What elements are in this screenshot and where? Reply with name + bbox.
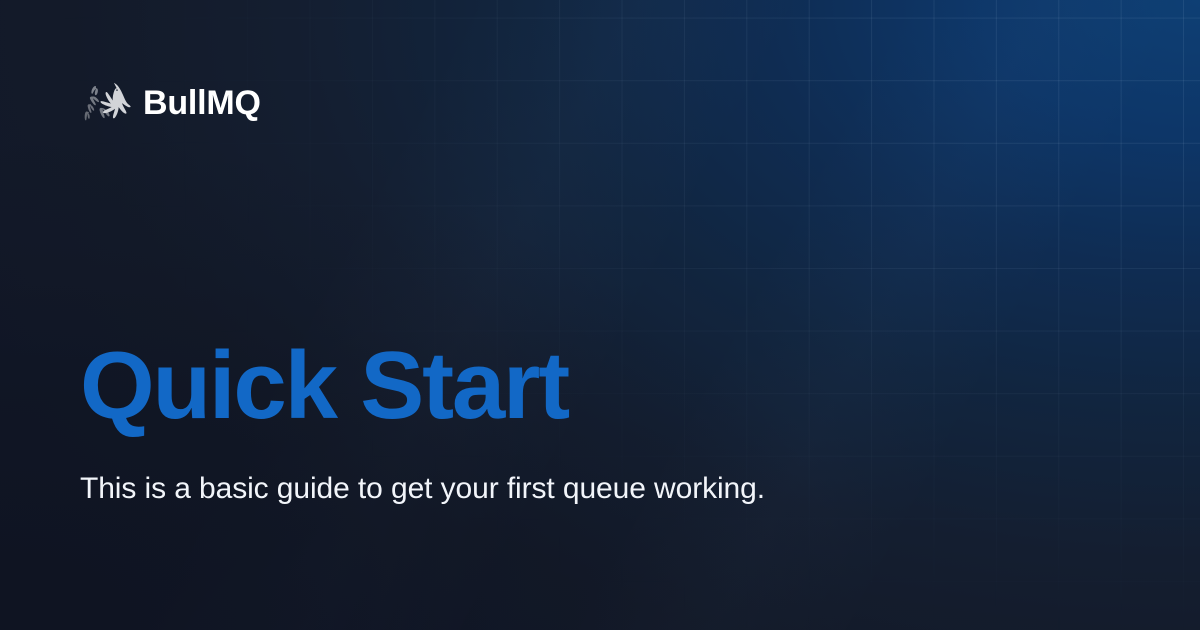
open-graph-card: BullMQ Quick Start This is a basic guide… <box>0 0 1200 630</box>
page-subtitle: This is a basic guide to get your first … <box>80 468 810 509</box>
page-title: Quick Start <box>80 338 568 434</box>
bull-logo-icon <box>79 79 131 127</box>
card-content: BullMQ Quick Start This is a basic guide… <box>0 0 1200 630</box>
brand-name-label: BullMQ <box>143 86 261 120</box>
brand-lockup: BullMQ <box>79 79 261 127</box>
